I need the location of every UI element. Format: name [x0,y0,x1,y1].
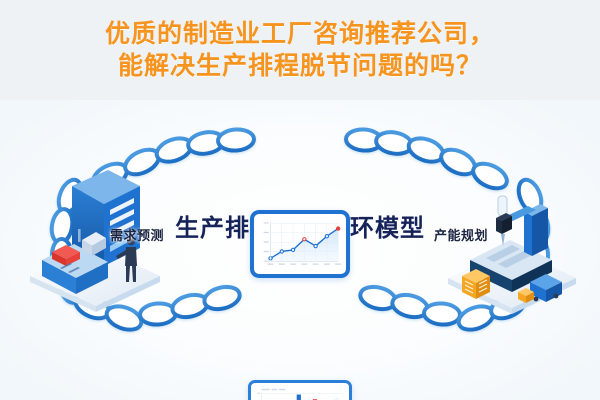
infographic-root: 优质的制造业工厂咨询推荐公司， 能解决生产排程脱节问题的吗？ [0,0,600,400]
monitor-frame [248,380,352,400]
monitor-bar-chart [248,380,352,400]
tablet-frame [250,210,350,278]
diagram-canvas: 生产排程优化闭环模型 需求预测 产能规划 排程编制 动态调整 执行监控 [0,100,600,400]
node-label-demand-forecast: 需求预测 [110,225,164,244]
header-title-line-1: 优质的制造业工厂咨询推荐公司， [105,20,495,48]
header-title-line-2: 能解决生产排程脱节问题的吗？ [118,52,482,80]
node-label-capacity-planning: 产能规划 [434,225,488,244]
header-banner: 优质的制造业工厂咨询推荐公司， 能解决生产排程脱节问题的吗？ [0,0,600,100]
tablet-line-chart [250,210,350,278]
execution-monitor-bar-chart [254,386,346,400]
demand-trend-line-chart [258,218,342,270]
